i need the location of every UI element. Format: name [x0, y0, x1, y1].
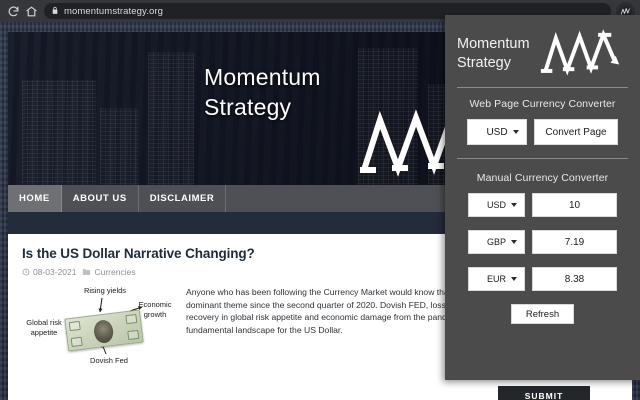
web-converter-row: USD Convert Page	[457, 119, 628, 145]
manual-amount-input-1[interactable]: 10	[532, 193, 617, 217]
folder-icon	[82, 268, 91, 276]
reload-icon[interactable]	[4, 2, 22, 20]
web-currency-value: USD	[486, 127, 507, 138]
url-text: momentumstrategy.org	[64, 6, 163, 17]
nav-item-about-us[interactable]: ABOUT US	[62, 185, 139, 212]
popup-divider-top	[457, 87, 628, 88]
convert-page-button[interactable]: Convert Page	[534, 119, 618, 145]
article-date-text: 08-03-2021	[33, 267, 76, 277]
bill-portrait	[93, 319, 115, 344]
extension-popup: Momentum Strategy	[445, 15, 640, 380]
manual-currency-select-3[interactable]: EUR	[468, 267, 525, 291]
lock-icon	[51, 2, 59, 20]
popup-brand: Momentum Strategy	[457, 35, 538, 73]
bill-corner	[71, 337, 83, 347]
bill-corner	[69, 321, 81, 331]
manual-row-3: EUR 8.38	[457, 267, 628, 291]
building-shape	[22, 80, 96, 185]
manual-currency-select-1[interactable]: USD	[468, 193, 525, 217]
nav-item-home[interactable]: HOME	[8, 185, 62, 212]
manual-currency-value-2: GBP	[487, 237, 506, 247]
chevron-down-icon	[511, 277, 517, 281]
article-date: 08-03-2021	[22, 267, 76, 277]
bill-corner	[127, 330, 139, 340]
manual-currency-select-2[interactable]: GBP	[468, 230, 525, 254]
screenshot-root: momentumstrategy.org Momentum Strategy	[0, 0, 640, 400]
manual-currency-value-1: USD	[487, 200, 506, 210]
manual-converter: Manual Currency Converter USD 10 GBP 7.1…	[457, 172, 628, 324]
bill-corner	[125, 314, 137, 324]
manual-amount-input-2[interactable]: 7.19	[532, 230, 617, 254]
article-category[interactable]: Currencies	[82, 267, 135, 277]
home-icon[interactable]	[22, 2, 40, 20]
article-category-text: Currencies	[94, 267, 135, 277]
submit-button[interactable]: SUBMIT	[498, 386, 590, 400]
manual-currency-value-3: EUR	[487, 274, 506, 284]
hero-title-line-1: Momentum	[204, 62, 354, 92]
clock-icon	[22, 268, 30, 276]
nav-item-disclaimer[interactable]: DISCLAIMER	[139, 185, 227, 212]
refresh-button[interactable]: Refresh	[511, 304, 574, 324]
web-currency-select[interactable]: USD	[467, 119, 527, 145]
hero-title-line-2: Strategy	[204, 92, 354, 122]
manual-amount-input-3[interactable]: 8.38	[532, 267, 617, 291]
hero-title: Momentum Strategy	[204, 62, 354, 122]
chevron-down-icon	[513, 130, 519, 134]
popup-brand-line-2: Strategy	[457, 54, 538, 73]
us-dollar-bill-illustration: Rising yields Economic growth Global ris…	[22, 286, 180, 378]
web-section-title: Web Page Currency Converter	[457, 98, 628, 110]
manual-row-2: GBP 7.19	[457, 230, 628, 254]
manual-row-1: USD 10	[457, 193, 628, 217]
popup-header: Momentum Strategy	[457, 25, 628, 83]
building-shape	[148, 52, 194, 185]
building-shape	[100, 108, 138, 185]
popup-divider-mid	[457, 158, 628, 159]
popup-brand-line-1: Momentum	[457, 35, 538, 54]
chevron-down-icon	[511, 203, 517, 207]
chevron-down-icon	[511, 240, 517, 244]
zigzag-momentum-logo	[540, 29, 628, 79]
manual-section-title: Manual Currency Converter	[457, 172, 628, 184]
